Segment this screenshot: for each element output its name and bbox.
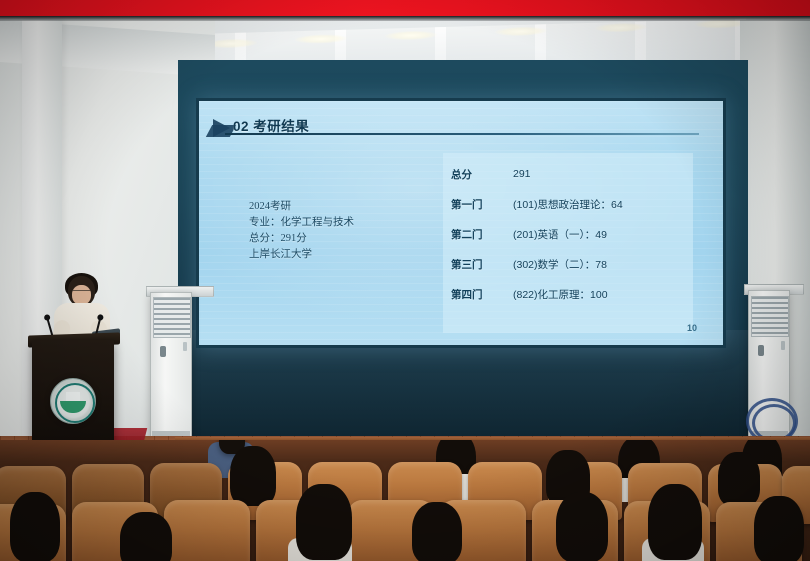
auditorium-seat [164, 500, 250, 561]
ac-grill [153, 297, 190, 337]
ceiling-light [385, 30, 437, 40]
ac-display [183, 342, 187, 351]
ac-grill [751, 296, 788, 337]
audience-hair [230, 446, 276, 506]
audience-hair [296, 484, 352, 560]
slide-page-number: 10 [687, 323, 697, 333]
table-row: 总分 291 [451, 159, 691, 189]
audience-hair [10, 492, 60, 561]
table-cell-value: (201)英语（一）：49 [513, 227, 607, 242]
audience-hair [556, 492, 608, 561]
slide-left-text-block: 2024考研 专业：化学工程与技术 总分：291分 上岸长江大学 [249, 199, 354, 263]
ac-logo [758, 345, 764, 356]
audience-hair [718, 452, 760, 506]
seated-audience [0, 440, 810, 561]
table-cell-value: (101)思想政治理论：64 [513, 197, 623, 212]
slide-score-table: 总分 291 第一门 (101)思想政治理论：64 第二门 (201)英语（一）… [451, 159, 691, 309]
table-cell-label: 第三门 [451, 257, 513, 272]
slide-title: 02 考研结果 [233, 115, 309, 135]
table-cell-value: (822)化工原理：100 [513, 287, 608, 302]
red-banner-strip [0, 0, 810, 16]
stage-back-wall-sheen [178, 330, 748, 450]
table-row: 第一门 (101)思想政治理论：64 [451, 189, 691, 219]
table-row: 第二门 (201)英语（一）：49 [451, 219, 691, 249]
lecture-hall-photo: 02 考研结果 2024考研 专业：化学工程与技术 总分：291分 上岸长江大学… [0, 0, 810, 561]
audience-hair [120, 512, 172, 561]
table-cell-label: 第一门 [451, 197, 513, 212]
slide-title-number: 02 [233, 119, 249, 134]
table-cell-value: 291 [513, 168, 531, 180]
ac-display [781, 341, 785, 350]
table-cell-label: 总分 [451, 167, 513, 182]
table-cell-label: 第二门 [451, 227, 513, 242]
slide-title-row: 02 考研结果 [227, 115, 697, 141]
ac-logo [160, 346, 166, 356]
audience-hair [648, 484, 702, 560]
projection-screen: 02 考研结果 2024考研 专业：化学工程与技术 总分：291分 上岸长江大学… [199, 101, 723, 345]
presenter-glasses [72, 290, 91, 296]
banner-shadow [0, 16, 810, 21]
table-cell-value: (302)数学（二）：78 [513, 257, 607, 272]
university-emblem [50, 378, 96, 424]
table-row: 第三门 (302)数学（二）：78 [451, 249, 691, 279]
audience-hair [754, 496, 804, 561]
audience-hair [412, 502, 462, 561]
air-conditioner-left [150, 292, 192, 442]
slide-title-underline [225, 133, 699, 135]
slide-title-text: 考研结果 [253, 119, 309, 134]
table-row: 第四门 (822)化工原理：100 [451, 279, 691, 309]
table-cell-label: 第四门 [451, 287, 513, 302]
